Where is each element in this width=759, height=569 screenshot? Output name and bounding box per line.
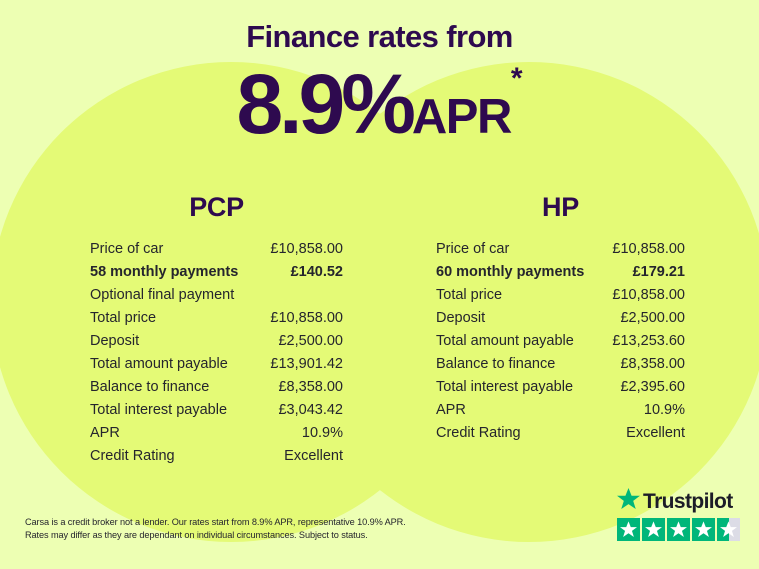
- plan-pcp: PCP Price of car £10,858.00 58 monthly p…: [90, 194, 343, 468]
- row-label: Total price: [90, 307, 156, 330]
- trustpilot-star-icon: [617, 488, 640, 515]
- row-label: APR: [90, 422, 120, 445]
- row-value: £8,358.00: [278, 376, 343, 399]
- table-row: 60 monthly payments £179.21: [436, 261, 685, 284]
- row-value: £179.21: [633, 261, 685, 284]
- table-row: Price of car £10,858.00: [90, 238, 343, 261]
- rate-asterisk: *: [511, 62, 523, 95]
- row-label: Deposit: [90, 330, 139, 353]
- row-value: 10.9%: [644, 399, 685, 422]
- rate-unit: APR: [412, 90, 511, 144]
- table-row: APR 10.9%: [436, 399, 685, 422]
- table-row: Total price £10,858.00: [436, 284, 685, 307]
- table-row: Deposit £2,500.00: [436, 307, 685, 330]
- row-label: Total price: [436, 284, 502, 307]
- table-row: Optional final payment: [90, 284, 343, 307]
- row-value: 10.9%: [302, 422, 343, 445]
- row-value: £2,500.00: [620, 307, 685, 330]
- table-row: Total amount payable £13,901.42: [90, 353, 343, 376]
- row-label: Balance to finance: [436, 353, 555, 376]
- plan-hp-title: HP: [436, 194, 685, 221]
- plan-pcp-title: PCP: [90, 194, 343, 221]
- row-value: Excellent: [626, 422, 685, 445]
- star-full-3: [667, 518, 690, 541]
- row-label: Price of car: [90, 238, 163, 261]
- row-label: Total amount payable: [90, 353, 228, 376]
- row-value: £140.52: [291, 261, 343, 284]
- trustpilot-name: Trustpilot: [643, 491, 733, 512]
- table-row: Total interest payable £3,043.42: [90, 399, 343, 422]
- table-row: Price of car £10,858.00: [436, 238, 685, 261]
- row-value: £2,395.60: [620, 376, 685, 399]
- row-label: Total amount payable: [436, 330, 574, 353]
- headline: Finance rates from: [0, 21, 759, 52]
- rate-display: 8.9%APR*: [0, 62, 759, 146]
- row-value: £10,858.00: [270, 238, 343, 261]
- table-row: APR 10.9%: [90, 422, 343, 445]
- table-row: Balance to finance £8,358.00: [90, 376, 343, 399]
- row-label: Balance to finance: [90, 376, 209, 399]
- table-row: Deposit £2,500.00: [90, 330, 343, 353]
- row-value: £10,858.00: [270, 307, 343, 330]
- row-value: £13,901.42: [270, 353, 343, 376]
- trustpilot-rating[interactable]: Trustpilot: [617, 489, 745, 541]
- star-full-1: [617, 518, 640, 541]
- row-value: £8,358.00: [620, 353, 685, 376]
- row-value: £2,500.00: [278, 330, 343, 353]
- table-row: Balance to finance £8,358.00: [436, 353, 685, 376]
- row-value: £13,253.60: [612, 330, 685, 353]
- trustpilot-stars: [617, 518, 745, 541]
- star-full-2: [642, 518, 665, 541]
- plan-pcp-rows: Price of car £10,858.00 58 monthly payme…: [90, 238, 343, 468]
- promo-banner: Finance rates from 8.9%APR* PCP Price of…: [0, 0, 759, 569]
- table-row: Total price £10,858.00: [90, 307, 343, 330]
- row-label: Credit Rating: [90, 445, 175, 468]
- table-row: Total amount payable £13,253.60: [436, 330, 685, 353]
- row-value: £10,858.00: [612, 284, 685, 307]
- row-label: Optional final payment: [90, 284, 234, 307]
- row-label: APR: [436, 399, 466, 422]
- trustpilot-wordmark: Trustpilot: [617, 489, 745, 514]
- rate-value: 8.9%: [236, 57, 411, 151]
- plan-hp-rows: Price of car £10,858.00 60 monthly payme…: [436, 238, 685, 445]
- table-row: Credit Rating Excellent: [90, 445, 343, 468]
- row-label: Total interest payable: [90, 399, 227, 422]
- plan-hp: HP Price of car £10,858.00 60 monthly pa…: [436, 194, 685, 445]
- row-value: £10,858.00: [612, 238, 685, 261]
- row-value: £3,043.42: [278, 399, 343, 422]
- disclaimer-line-1: Carsa is a credit broker not a lender. O…: [25, 516, 445, 529]
- disclaimer: Carsa is a credit broker not a lender. O…: [25, 516, 445, 542]
- row-label: Credit Rating: [436, 422, 521, 445]
- table-row: 58 monthly payments £140.52: [90, 261, 343, 284]
- row-label: Total interest payable: [436, 376, 573, 399]
- star-half-5: [717, 518, 740, 541]
- row-label: 58 monthly payments: [90, 261, 238, 284]
- star-full-4: [692, 518, 715, 541]
- row-label: 60 monthly payments: [436, 261, 584, 284]
- table-row: Credit Rating Excellent: [436, 422, 685, 445]
- row-label: Deposit: [436, 307, 485, 330]
- row-value: Excellent: [284, 445, 343, 468]
- row-label: Price of car: [436, 238, 509, 261]
- table-row: Total interest payable £2,395.60: [436, 376, 685, 399]
- disclaimer-line-2: Rates may differ as they are dependant o…: [25, 529, 445, 542]
